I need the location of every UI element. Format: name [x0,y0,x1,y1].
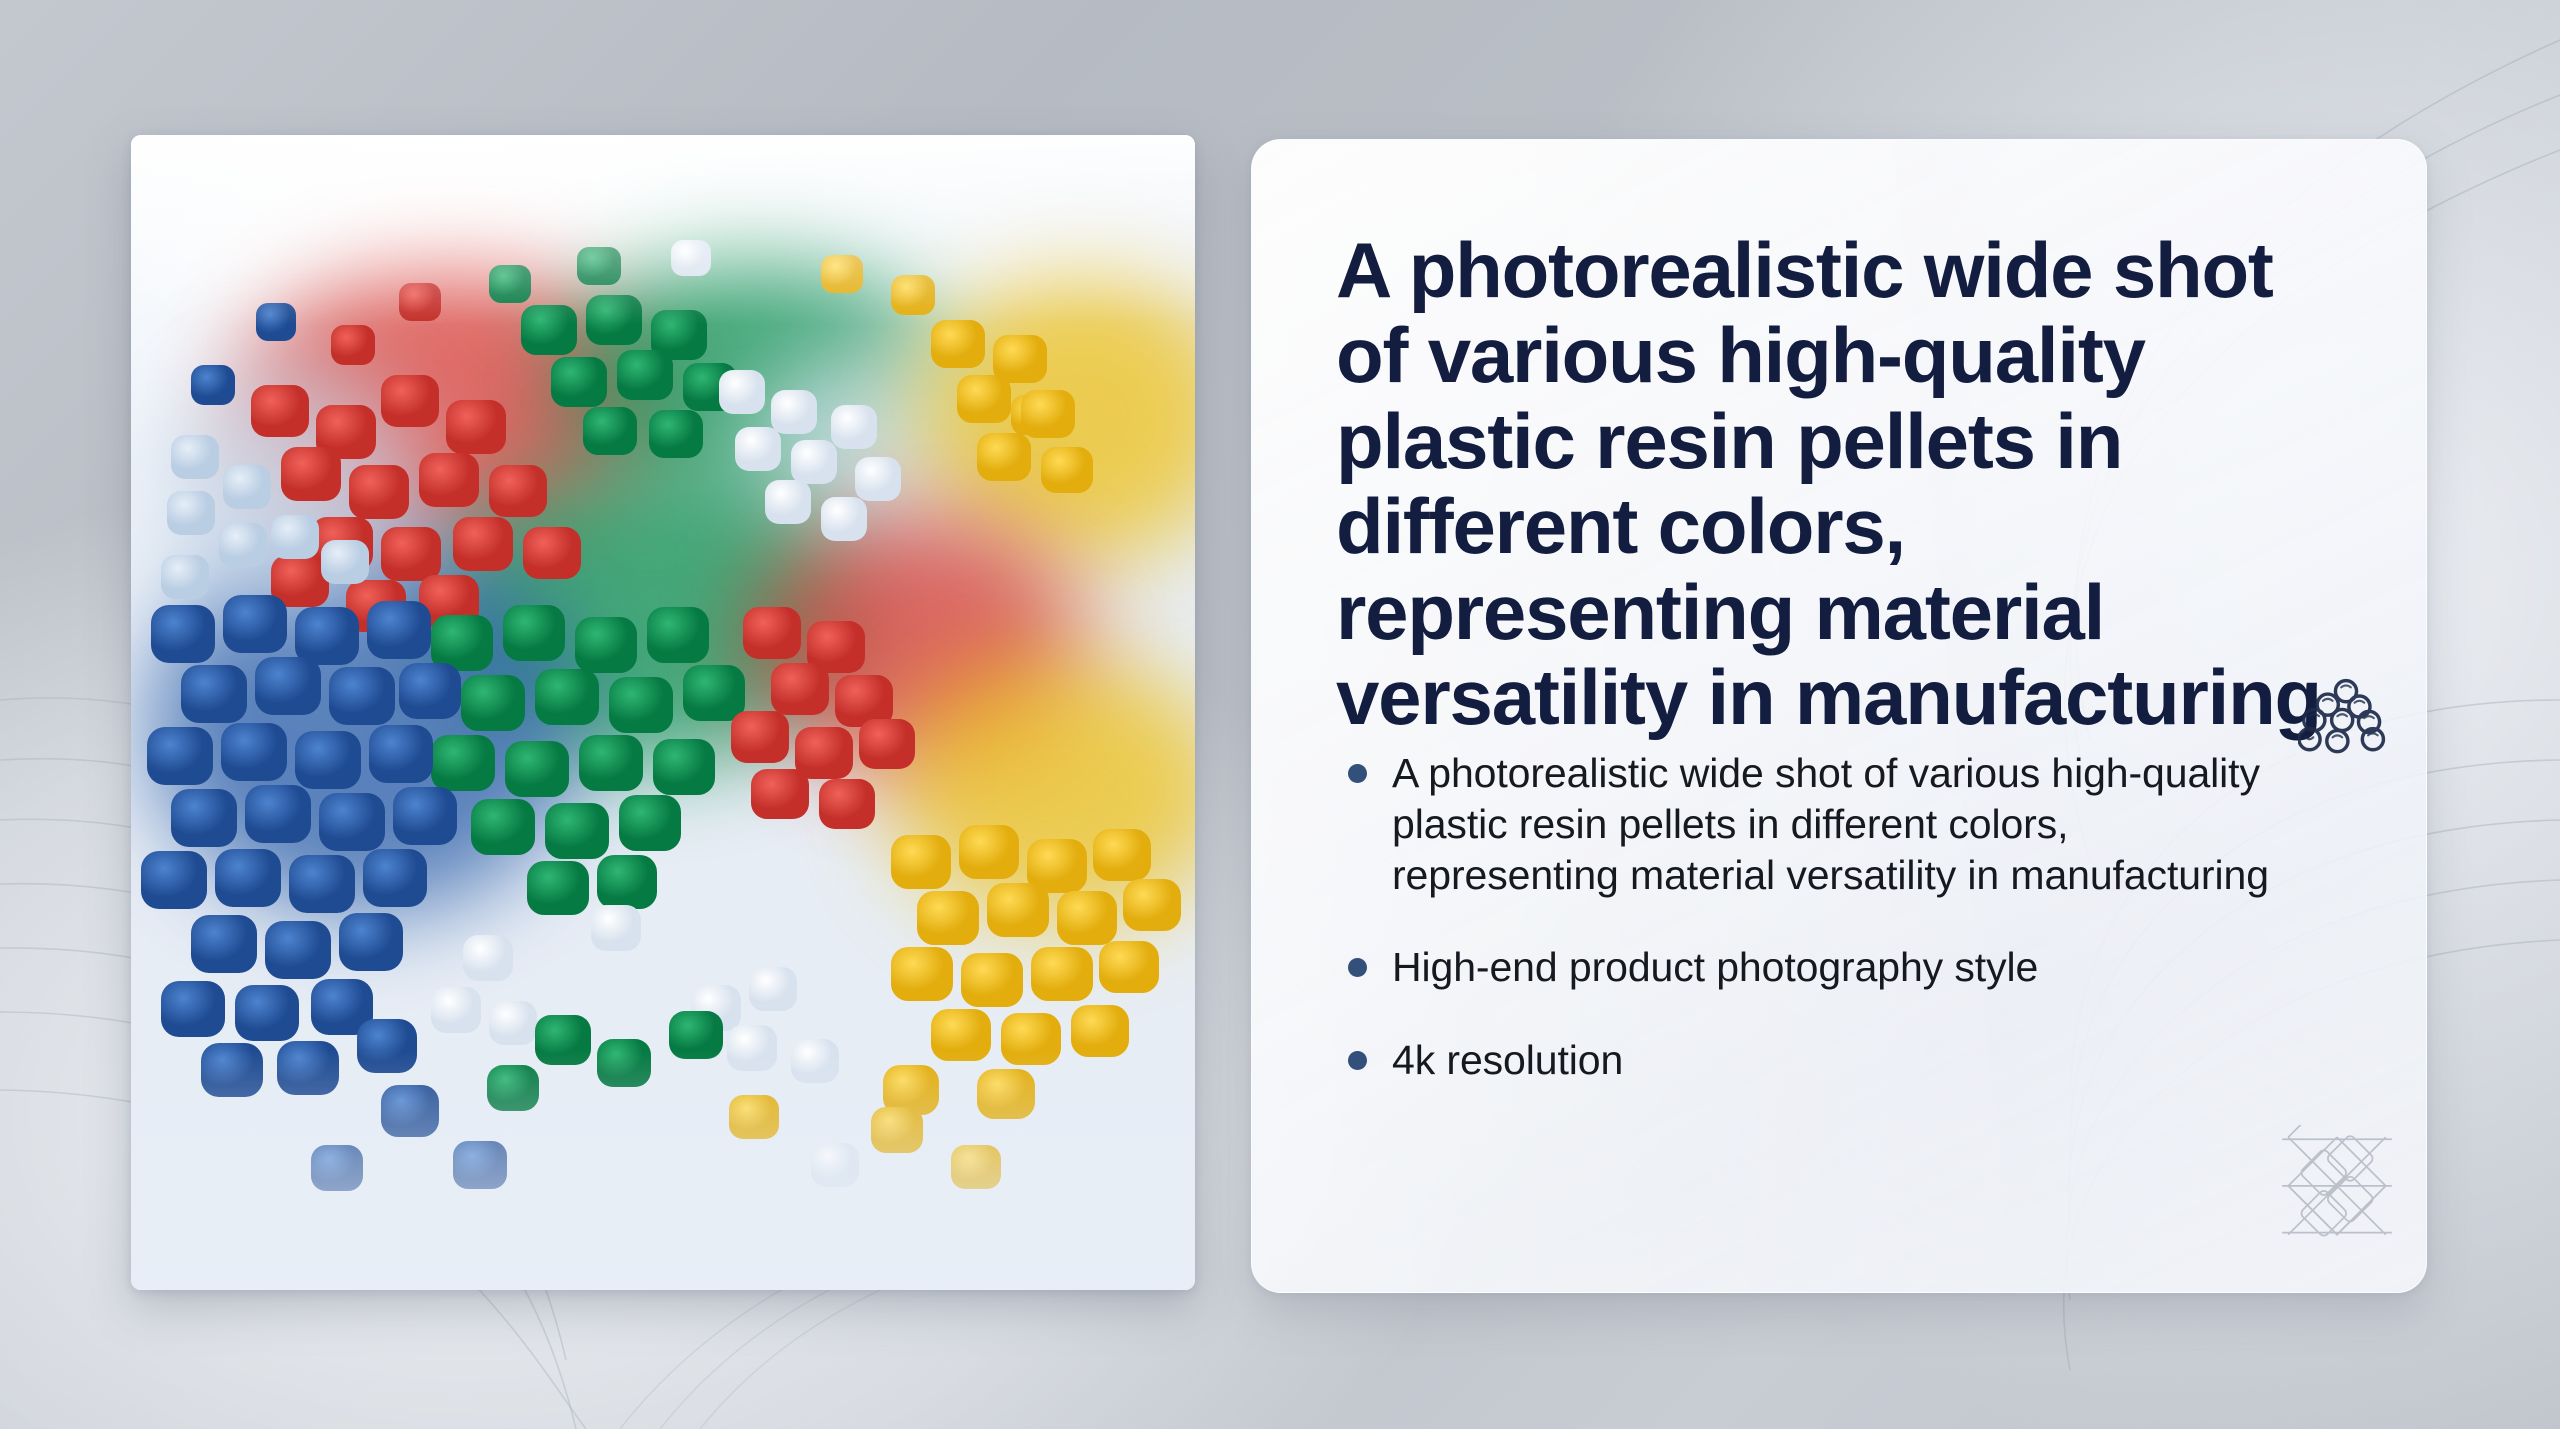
pellet-cluster-icon [2298,672,2394,768]
bullet-dot-icon [1348,1051,1367,1070]
list-item: 4k resolution [1334,1035,2294,1086]
bullet-dot-icon [1348,958,1367,977]
list-item-label: 4k resolution [1392,1037,1623,1083]
bullet-dot-icon [1348,764,1367,783]
prompt-card: A photorealistic wide shot of various hi… [1251,139,2427,1293]
photo-bottom-fade [131,1050,1195,1290]
list-item-label: A photorealistic wide shot of various hi… [1392,750,2269,898]
pellets-photo [131,135,1195,1290]
page-title: A photorealistic wide shot of various hi… [1336,228,2356,740]
list-item-label: High-end product photography style [1392,944,2038,990]
list-item: High-end product photography style [1334,942,2294,993]
photo-top-glow [131,135,1195,325]
bullet-list: A photorealistic wide shot of various hi… [1334,748,2294,1086]
diamond-lattice-icon [2276,1125,2398,1257]
list-item: A photorealistic wide shot of various hi… [1334,748,2294,900]
